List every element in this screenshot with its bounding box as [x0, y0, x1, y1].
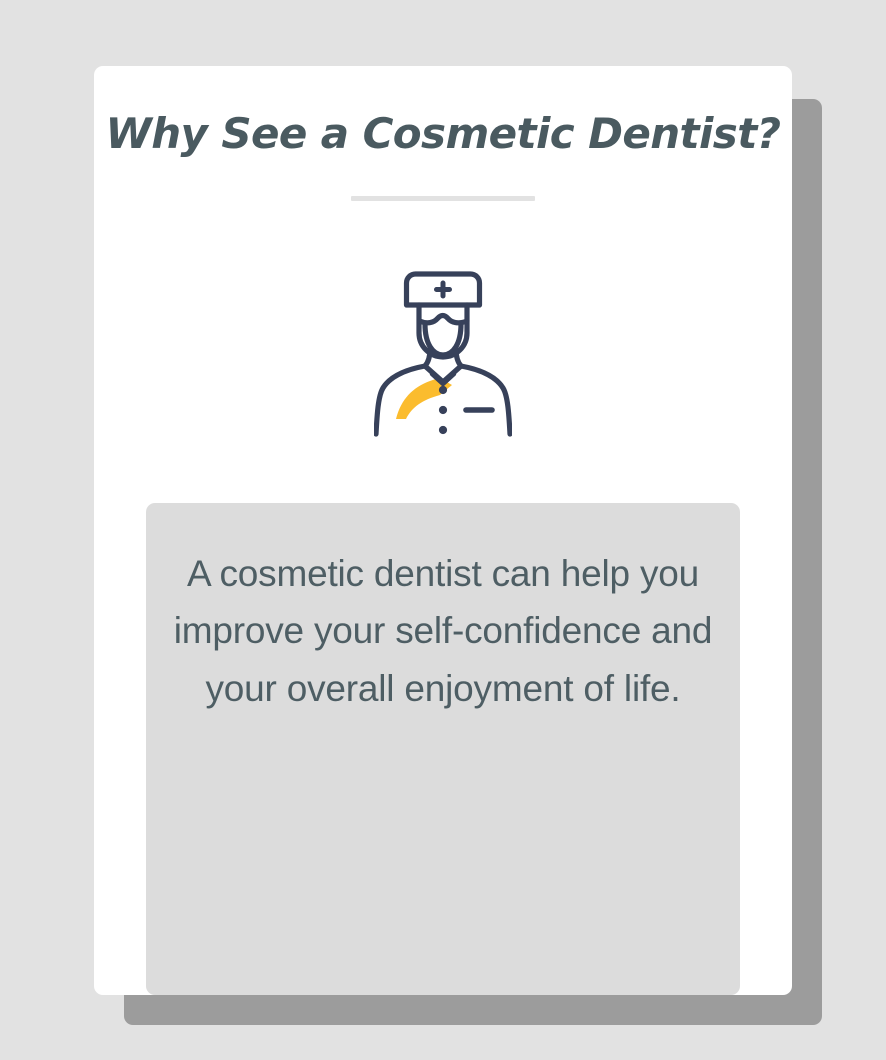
quote-panel: A cosmetic dentist can help you improve …: [146, 503, 740, 995]
content-card: Why See a Cosmetic Dentist?: [94, 66, 792, 995]
dentist-figure-icon-svg: [374, 264, 512, 442]
button-2: [439, 406, 447, 414]
title-divider: [351, 196, 535, 201]
coat-right: [461, 366, 510, 434]
button-1: [439, 386, 447, 394]
cap-plus-icon: [437, 283, 450, 296]
dentist-figure-icon: [374, 264, 512, 442]
page-title: Why See a Cosmetic Dentist?: [94, 111, 792, 157]
button-3: [439, 426, 447, 434]
quote-text: A cosmetic dentist can help you improve …: [172, 545, 714, 717]
page-canvas: Why See a Cosmetic Dentist?: [0, 0, 886, 1060]
